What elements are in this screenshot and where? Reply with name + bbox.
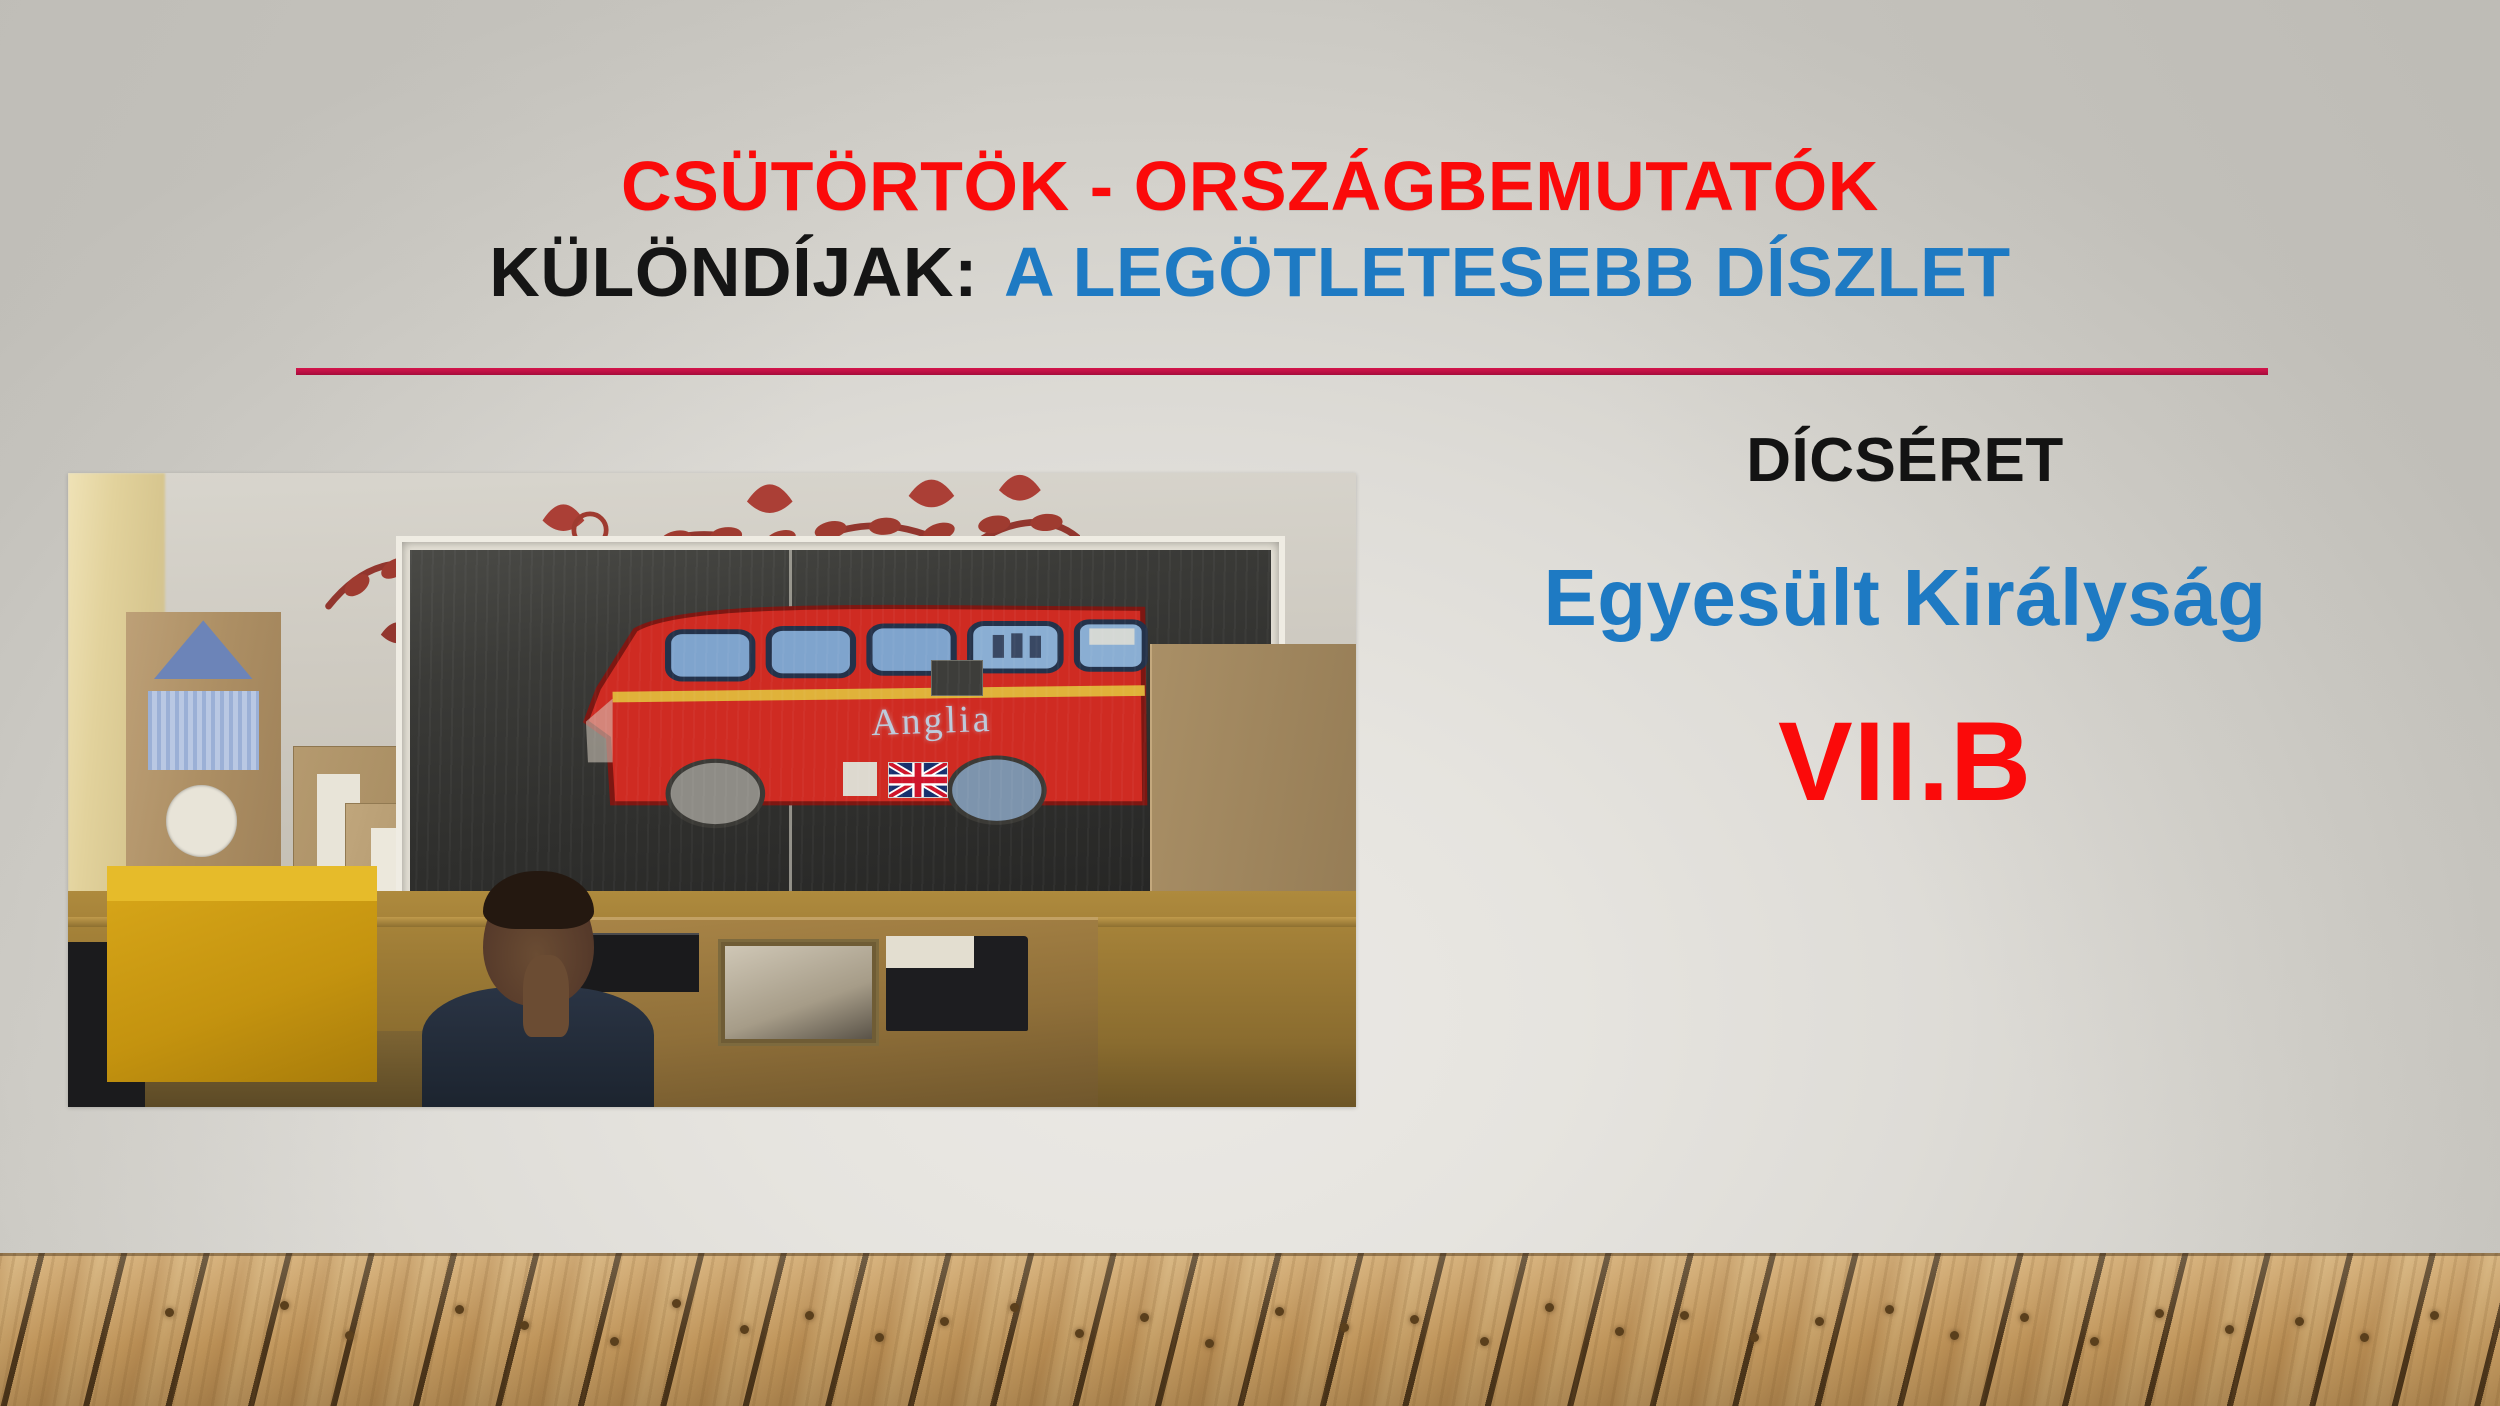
yellow-covered-table [107,866,377,1082]
plank-knot [1140,1313,1149,1322]
big-ben-clock-face [166,785,237,856]
award-praise-label: DÍCSÉRET [1390,430,2420,492]
plank-knot [672,1299,681,1308]
blackboard-small-photo [843,762,877,796]
plank-knot [1680,1311,1689,1320]
big-ben-roof [154,620,253,679]
plank-knot [455,1305,464,1314]
slide-title-primary: CSÜTÖRTÖK - ORSZÁGBEMUTATÓK [0,150,2500,223]
desk-bag [886,936,1028,1031]
classroom-photo: Anglia [68,473,1356,1107]
plank-knot [2360,1333,2369,1342]
red-double-decker-bus-drawing [514,599,1151,844]
plank-top-edge [0,1253,2500,1256]
plank-knot [2020,1313,2029,1322]
union-jack-flag-icon [888,762,948,798]
plank-knot [345,1331,354,1340]
headline-block: CSÜTÖRTÖK - ORSZÁGBEMUTATÓK KÜLÖNDÍJAK:A… [0,150,2500,311]
plank-knot [2225,1325,2234,1334]
plank-knot [610,1337,619,1346]
plank-knot [165,1308,174,1317]
award-column: DÍCSÉRET Egyesült Királyság VII.B [1390,430,2420,818]
plank-knot [1750,1333,1759,1342]
student-hand [523,955,569,1037]
plank-knot [2295,1317,2304,1326]
plank-knot [1075,1329,1084,1338]
blackboard-surface: Anglia [410,550,1271,921]
plank-knot [875,1333,884,1342]
plank-knot [1480,1337,1489,1346]
special-awards-category: A LEGÖTLETESEBB DÍSZLET [1004,233,2011,311]
blackboard-pinned-card [931,660,983,696]
plank-knot [740,1325,749,1334]
plank-knot [1615,1327,1624,1336]
plank-knot [1545,1303,1554,1312]
plank-knot [520,1321,529,1330]
slide-title-secondary: KÜLÖNDÍJAK:A LEGÖTLETESEBB DÍSZLET [0,233,2500,311]
plank-knot [1275,1307,1284,1316]
plank-knot [2090,1337,2099,1346]
chalk-text-anglia: Anglia [870,697,993,745]
plank-knot [1010,1303,1019,1312]
plank-knot [1950,1331,1959,1340]
desk-framed-screen [718,939,879,1046]
plank-knot [1410,1315,1419,1324]
plank-knot [2430,1311,2439,1320]
plank-knot [1340,1323,1349,1332]
award-class-name: VII.B [1390,706,2420,818]
table-cloth-top [107,866,377,900]
plank-knot [940,1317,949,1326]
plank-knot [2155,1309,2164,1318]
plank-knot [1205,1339,1214,1348]
presentation-slide: CSÜTÖRTÖK - ORSZÁGBEMUTATÓK KÜLÖNDÍJAK:A… [0,0,2500,1406]
special-awards-label: KÜLÖNDÍJAK: [489,233,978,311]
plank-grain-overlay [0,1253,2500,1406]
big-ben-facade-stripes [148,691,259,770]
plank-knot [805,1311,814,1320]
wooden-plank-footer [0,1253,2500,1406]
award-country-name: Egyesült Királyság [1390,558,2420,638]
blackboard-panel-divider [789,550,792,921]
plank-knot [280,1301,289,1310]
screen-surface [725,946,872,1039]
plank-knot [1885,1305,1894,1314]
bag-paper [886,936,974,968]
classroom-photo-content: Anglia [68,473,1356,1107]
plank-knot [1815,1317,1824,1326]
title-divider-rule [296,368,2268,375]
